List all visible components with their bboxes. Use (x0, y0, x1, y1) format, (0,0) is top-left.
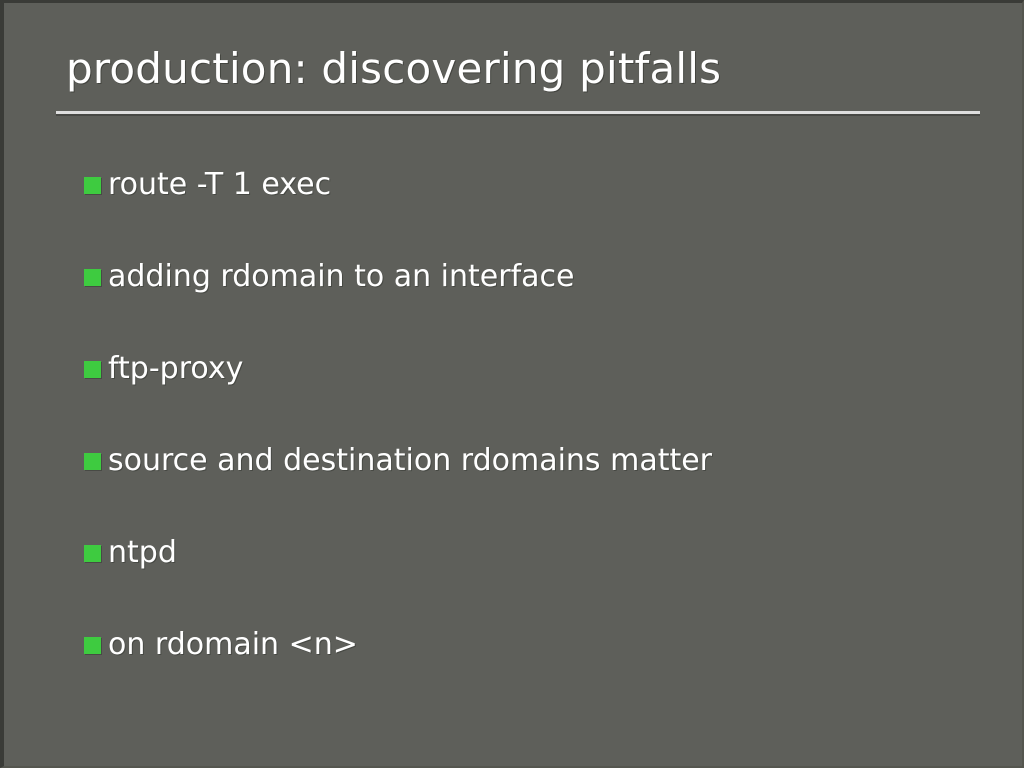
list-item-label: source and destination rdomains matter (101, 439, 984, 483)
list-item-label: on rdomain <n> (101, 623, 984, 667)
list-item-label: ftp-proxy (101, 347, 984, 391)
presentation-slide: production: discovering pitfalls route -… (0, 0, 1024, 768)
page-title: production: discovering pitfalls (52, 41, 980, 97)
list-item: on rdomain <n> (84, 623, 984, 715)
bullet-list: route -T 1 exec adding rdomain to an int… (84, 163, 984, 715)
square-bullet-icon (84, 453, 101, 470)
list-item: ntpd (84, 531, 984, 623)
square-bullet-icon (84, 361, 101, 378)
square-bullet-icon (84, 545, 101, 562)
square-bullet-icon (84, 637, 101, 654)
list-item: source and destination rdomains matter (84, 439, 984, 531)
list-item: route -T 1 exec (84, 163, 984, 255)
list-item: ftp-proxy (84, 347, 984, 439)
square-bullet-icon (84, 177, 101, 194)
list-item-label: route -T 1 exec (101, 163, 984, 207)
square-bullet-icon (84, 269, 101, 286)
title-underline-rule (56, 111, 980, 114)
list-item-label: ntpd (101, 531, 984, 575)
slide-title-block: production: discovering pitfalls (52, 41, 980, 97)
list-item-label: adding rdomain to an interface (101, 255, 984, 299)
list-item: adding rdomain to an interface (84, 255, 984, 347)
